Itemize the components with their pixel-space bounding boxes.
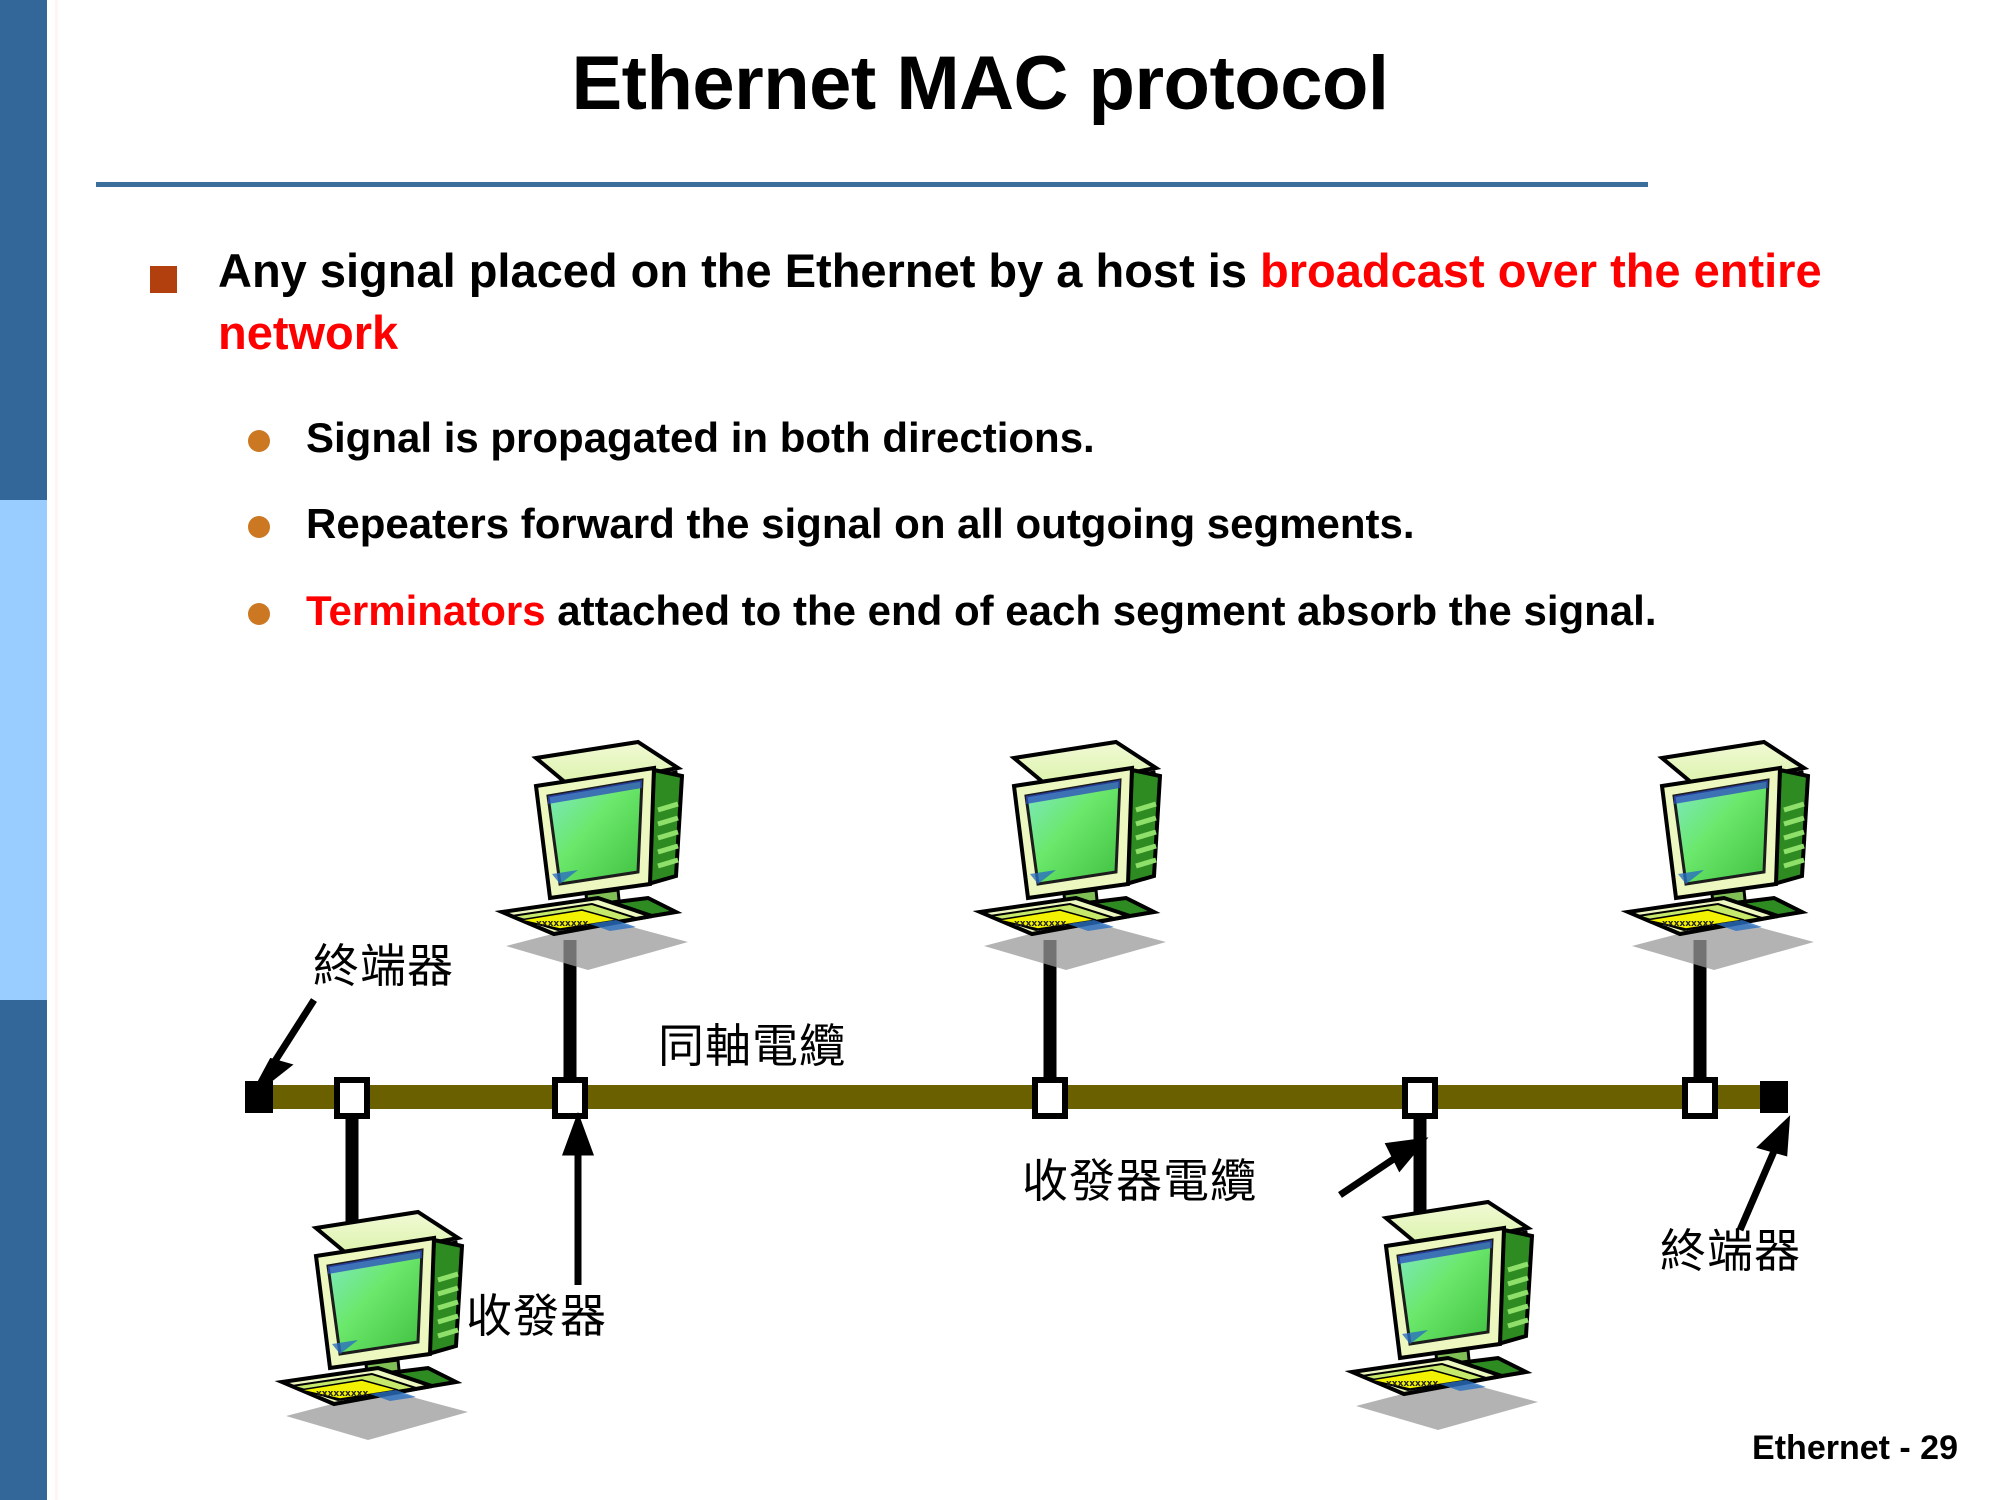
terminator-right <box>1760 1081 1788 1113</box>
label-terminator-left: 終端器 <box>313 930 454 996</box>
slide-footer: Ethernet - 29 <box>1752 1429 1958 1468</box>
host-computer-top-3 <box>1628 742 1814 970</box>
slide-canvas: Ethernet MAC protocol Any signal placed … <box>0 0 2000 1500</box>
annotation-arrows <box>258 1000 1786 1285</box>
label-coaxial-cable: 同軸電纜 <box>658 1010 846 1076</box>
host-computer-top-1 <box>502 742 688 970</box>
label-transceiver: 收發器 <box>466 1280 607 1346</box>
coaxial-bus-cable <box>245 1085 1785 1109</box>
label-transceiver-cable: 收發器電纜 <box>1022 1145 1257 1211</box>
host-computer-bottom-1 <box>282 1212 468 1440</box>
host-computer-bottom-2 <box>1352 1202 1538 1430</box>
host-computer-top-2 <box>980 742 1166 970</box>
drop-cables-bottom <box>352 1088 1420 1230</box>
label-terminator-right: 終端器 <box>1660 1215 1801 1281</box>
